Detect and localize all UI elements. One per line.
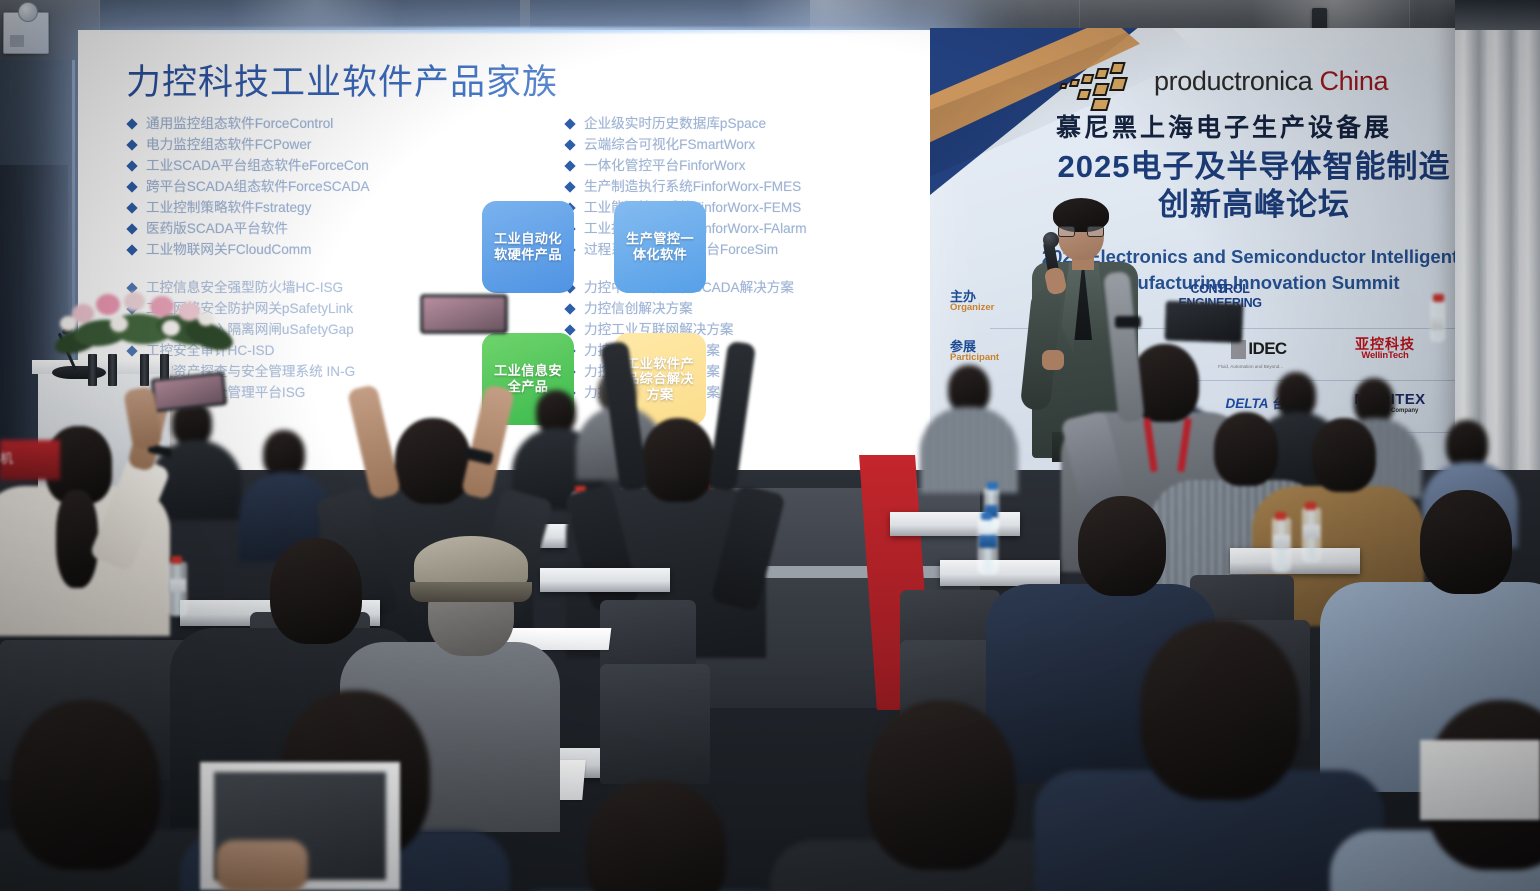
productronica-mark-icon <box>1058 58 1142 104</box>
wall-control-box <box>3 12 49 54</box>
productronica-logo: productronica China <box>1058 58 1388 104</box>
table <box>1230 548 1360 574</box>
list-item: 一体化管控平台FinforWorx <box>566 159 884 173</box>
diamond-bullet-icon <box>126 244 137 255</box>
signage-text: 机 <box>0 448 46 470</box>
water-bottle <box>1272 518 1291 572</box>
brand-region: China <box>1320 66 1389 96</box>
vase-column-3 <box>140 354 149 386</box>
wellintech-logo: 亚控科技 WellinTech <box>1330 330 1440 368</box>
diamond-bullet-icon <box>126 160 137 171</box>
document <box>1420 740 1540 820</box>
microphone-capsule-icon <box>1043 232 1059 248</box>
diamond-bullet-icon <box>126 181 137 192</box>
table <box>890 512 1020 536</box>
category-box-production-control: 生产管控一体化软件 <box>614 201 706 293</box>
diamond-bullet-icon <box>126 223 137 234</box>
diamond-bullet-icon <box>564 118 575 129</box>
banner-title-line1: 2025电子及半导体智能制造 <box>1034 148 1474 186</box>
diamond-bullet-icon <box>564 139 575 150</box>
slide-title: 力控科技工业软件产品家族 <box>126 54 930 105</box>
list-item: 电力监控组态软件FCPower <box>128 138 554 152</box>
table <box>540 568 670 592</box>
table <box>940 560 1060 586</box>
eyeglasses-icon <box>1058 226 1104 237</box>
productronica-wordmark: productronica China <box>1154 66 1388 97</box>
tablet[interactable] <box>1164 301 1243 344</box>
brand-name: productronica <box>1154 66 1312 96</box>
diamond-bullet-icon <box>126 202 137 213</box>
cap-brim-icon <box>410 582 532 602</box>
water-bottle <box>1430 300 1445 342</box>
participant-sublabel: Participant <box>950 352 999 363</box>
banner-chinese-subtitle: 慕尼黑上海电子生产设备展 <box>1056 108 1456 144</box>
water-bottle <box>978 518 998 574</box>
list-item: 通用监控组态软件ForceControl <box>128 117 554 131</box>
vase-column-1 <box>88 354 97 386</box>
diamond-bullet-icon <box>126 118 137 129</box>
diamond-bullet-icon <box>126 139 137 150</box>
vase-column-2 <box>108 354 117 386</box>
category-box-industrial-automation: 工业自动化软硬件产品 <box>482 201 574 293</box>
list-item: 云端综合可视化FSmartWorx <box>566 138 884 152</box>
organizer-sublabel: Organizer <box>950 302 994 313</box>
water-bottle <box>1302 508 1321 562</box>
conference-photo-scene: 力控科技工业软件产品家族 通用监控组态软件ForceControl 电力监控组态… <box>0 0 1540 891</box>
water-bottle <box>168 562 187 616</box>
curtain-top-shadow <box>1455 0 1540 30</box>
chair <box>600 664 710 784</box>
smartphone[interactable] <box>420 294 508 334</box>
ceiling-sensor-icon <box>18 2 38 22</box>
list-item: 工业SCADA平台组态软件eForceCon <box>128 159 554 173</box>
list-item: 企业级实时历史数据库pSpace <box>566 117 884 131</box>
hand <box>216 840 308 891</box>
presenter-hand-lower <box>1042 350 1064 370</box>
diamond-bullet-icon <box>564 160 575 171</box>
